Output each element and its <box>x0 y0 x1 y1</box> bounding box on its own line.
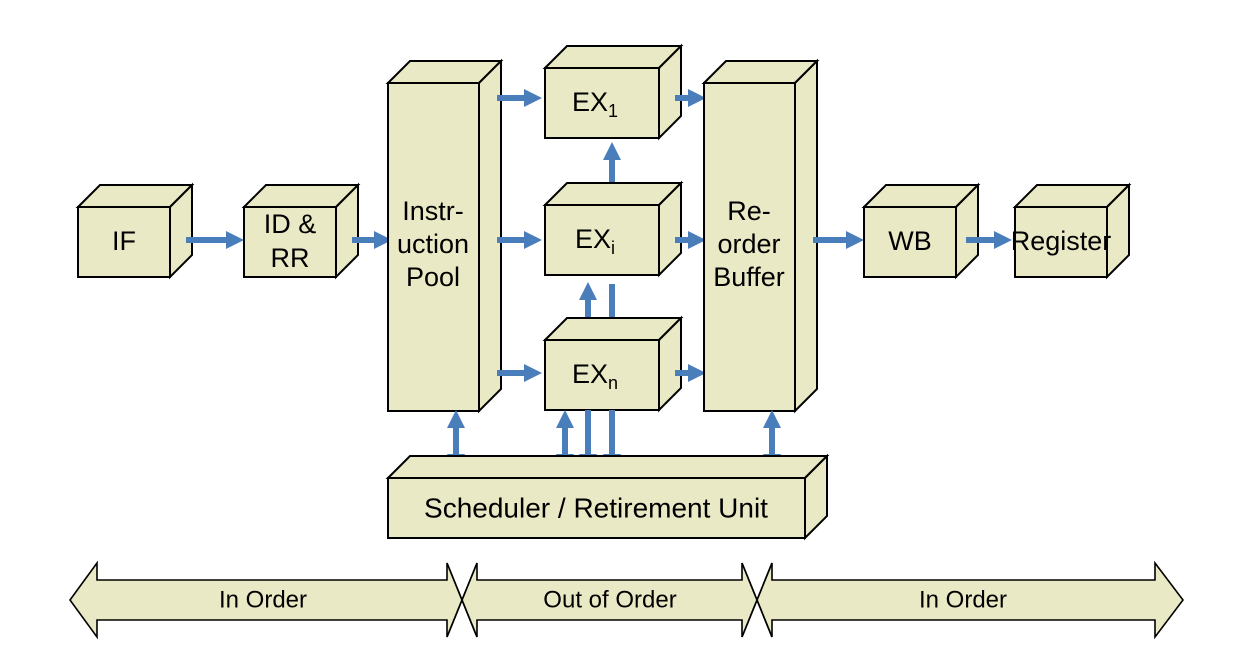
band-out-of-order-label: Out of Order <box>543 586 676 613</box>
block-wb-label: WB <box>888 226 932 256</box>
block-ex-n: EXn <box>545 318 681 410</box>
block-reorder-buffer: Re- order Buffer <box>704 61 817 411</box>
block-id-rr: ID & RR <box>244 185 358 277</box>
block-wb: WB <box>864 185 978 277</box>
block-scheduler: Scheduler / Retirement Unit <box>388 456 827 538</box>
block-instruction-pool: Instr- uction Pool <box>388 61 501 411</box>
band-in-order-front-label: In Order <box>219 586 307 613</box>
band-out-of-order: Out of Order <box>462 563 757 637</box>
block-reorder-buffer-label-line2: order <box>717 229 780 259</box>
block-reorder-buffer-label-line3: Buffer <box>713 262 785 292</box>
arrow-pool-to-exi <box>497 231 542 249</box>
block-if-label: IF <box>112 226 136 256</box>
block-ex-n-label-base: EX <box>572 359 608 389</box>
band-in-order-back-label: In Order <box>919 586 1007 613</box>
block-reorder-buffer-label-line1: Re- <box>727 196 771 226</box>
block-ex-i-label: EXi <box>575 224 615 258</box>
block-if: IF <box>78 185 192 277</box>
block-ex-1-label-subscript: 1 <box>608 101 618 121</box>
arrow-pool-to-exn <box>497 364 542 382</box>
block-scheduler-label: Scheduler / Retirement Unit <box>424 492 768 523</box>
block-ex-1-label-base: EX <box>572 87 608 117</box>
block-ex-n-label-subscript: n <box>608 373 618 393</box>
arrow-rob-to-wb <box>813 231 864 249</box>
block-instruction-pool-label-line1: Instr- <box>402 196 464 226</box>
block-id-rr-label-line1: ID & <box>264 209 317 239</box>
block-ex-i-label-base: EX <box>575 224 611 254</box>
pipeline-diagram: IF ID & RR Instr- uction Pool <box>0 0 1249 661</box>
arrow-if-to-id <box>186 231 244 249</box>
block-instruction-pool-label-line3: Pool <box>406 262 460 292</box>
block-instruction-pool-label-line2: uction <box>397 229 469 259</box>
band-in-order-front: In Order <box>70 563 462 637</box>
band-in-order-back: In Order <box>757 563 1183 637</box>
arrow-pool-to-ex1 <box>497 89 542 107</box>
block-ex-i: EXi <box>545 183 681 275</box>
block-register-label: Register <box>1011 226 1112 256</box>
block-register: Register <box>1011 185 1129 277</box>
block-ex-1: EX1 <box>545 46 681 138</box>
block-ex-i-label-subscript: i <box>611 238 615 258</box>
block-id-rr-label-line2: RR <box>271 243 310 273</box>
